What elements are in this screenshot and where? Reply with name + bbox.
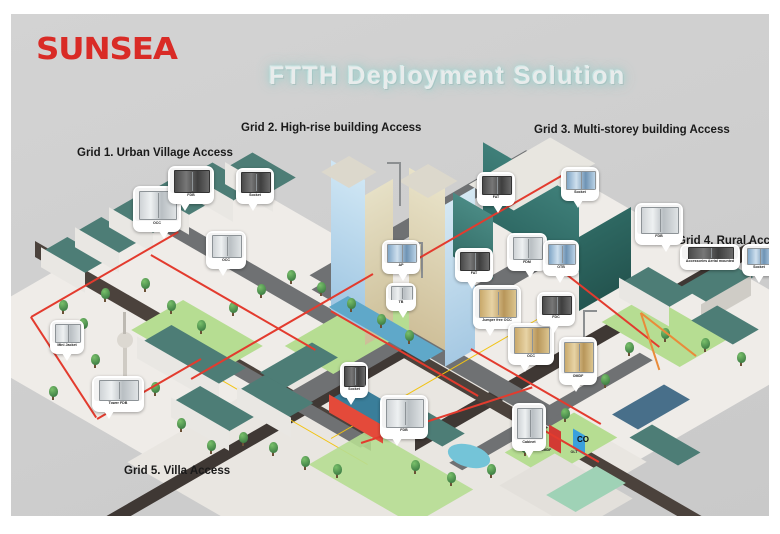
callout-label-ap-highrise: AP — [384, 263, 418, 268]
grid-label-3: Grid 3. Multi-storey building Access — [534, 124, 730, 136]
callout-label-fdm-multistorey: FDM — [509, 260, 545, 265]
callout-tail-jumper-free-occ — [485, 328, 495, 336]
callout-tail-fdc-street — [549, 325, 559, 333]
tree — [625, 342, 634, 356]
street-lamp-pole — [421, 242, 423, 278]
tree — [167, 300, 176, 314]
grid-label-1: Grid 1. Urban Village Access — [77, 147, 233, 159]
callout-label-mini-jacket: Mini Jacket — [52, 343, 82, 348]
device-art-socket-multistorey — [566, 171, 595, 190]
tree — [317, 282, 326, 296]
callout-fdb-villa[interactable]: FDB — [380, 395, 428, 439]
tree — [257, 284, 266, 298]
tree — [239, 432, 248, 446]
tree — [301, 456, 310, 470]
callout-label-otb-multistorey: OTB — [545, 265, 577, 270]
callout-image-fdc-street — [539, 294, 573, 315]
callout-socket-multistorey[interactable]: Socket — [561, 167, 599, 201]
tree — [447, 472, 456, 486]
callout-cabinet-co[interactable]: Cabinet — [512, 403, 546, 451]
callout-tail-tb-highrise — [398, 310, 408, 318]
tree — [269, 442, 278, 456]
tree — [333, 464, 342, 478]
callout-fdc-street[interactable]: FDC — [537, 292, 575, 326]
tree — [49, 386, 58, 400]
callout-tail-otb-multistorey — [555, 275, 565, 283]
callout-socket-rural[interactable]: Socket — [742, 244, 769, 276]
callout-image-ap-highrise — [384, 242, 418, 263]
tree — [377, 314, 386, 328]
sunsea-logo: SUNSEA — [36, 32, 177, 67]
callout-socket-village[interactable]: Socket — [236, 168, 274, 204]
grid-label-5: Grid 5. Villa Access — [124, 465, 230, 477]
isometric-city-scene: OMDF OLT — [11, 142, 769, 514]
tree — [601, 374, 610, 388]
callout-tail-occ-village — [159, 231, 169, 239]
device-art-fat-multistorey — [482, 176, 511, 195]
callout-tb-highrise[interactable]: TB — [386, 283, 416, 311]
callout-tail-mini-jacket — [62, 353, 72, 361]
callout-mini-jacket[interactable]: Mini Jacket — [50, 320, 84, 354]
callout-label-tb-highrise: TB — [388, 300, 414, 305]
device-art-socket-rural — [747, 248, 769, 265]
callout-tail-tower-fdb — [104, 411, 114, 419]
tree — [59, 300, 68, 314]
callout-image-fat-multistorey — [479, 174, 513, 195]
callout-label-fdb-rural: FDB — [637, 234, 681, 239]
callout-tail-socket-multistorey — [573, 200, 583, 208]
callout-image-omdf-street — [561, 339, 595, 374]
callout-image-cabinet-co — [514, 405, 544, 440]
tower-spire — [123, 312, 126, 334]
device-art-socket-village — [241, 172, 270, 193]
callout-occ-street-left[interactable]: OCC — [206, 231, 246, 269]
callout-tail-socket-village — [248, 203, 258, 211]
device-art-omdf-street — [564, 342, 593, 373]
tree — [91, 354, 100, 368]
tree — [561, 408, 570, 422]
tree — [487, 464, 496, 478]
callout-image-jumper-free-occ — [475, 287, 519, 318]
callout-tail-occ-street-left — [218, 268, 228, 276]
callout-image-socket-multistorey — [563, 169, 597, 190]
street-lamp-arm — [387, 162, 401, 164]
tree — [737, 352, 746, 366]
callout-label-fdb-village: FDB — [170, 193, 212, 198]
tree — [101, 288, 110, 302]
street-lamp-pole — [399, 162, 401, 206]
poster-canvas: SUNSEA FTTH Deployment Solution — [11, 14, 769, 516]
callout-label-socket-rural: Socket — [744, 265, 769, 270]
tree — [207, 440, 216, 454]
callout-ap-highrise[interactable]: AP — [382, 240, 420, 274]
callout-tail-ap-highrise — [398, 273, 408, 281]
callout-tail-socket-rural — [754, 275, 764, 283]
callout-label-socket-village: Socket — [238, 193, 272, 198]
device-art-fat-highrise — [460, 252, 489, 271]
callout-image-tb-highrise — [388, 285, 414, 300]
tree — [177, 418, 186, 432]
device-art-otb-multistorey — [548, 244, 576, 265]
callout-image-fdb-rural — [637, 205, 681, 234]
device-art-occ-street-left — [212, 235, 243, 258]
callout-image-tower-fdb — [94, 378, 142, 401]
device-art-cabinet-co — [517, 408, 543, 439]
callout-label-socket-villa: Socket — [342, 387, 366, 392]
device-art-fdc-street — [542, 296, 571, 315]
device-art-occ-center — [514, 327, 550, 353]
callout-image-socket-village — [238, 170, 272, 193]
callout-image-fdb-village — [170, 168, 212, 193]
callout-omdf-street[interactable]: OMDF — [559, 337, 597, 385]
device-art-tower-fdb — [99, 380, 139, 401]
tree — [411, 460, 420, 474]
device-art-fdb-villa — [386, 399, 423, 427]
callout-tail-fdb-villa — [392, 438, 402, 446]
callout-tail-fdb-village — [180, 203, 190, 211]
device-art-mini-jacket — [55, 324, 81, 343]
device-art-tb-highrise — [391, 286, 414, 300]
callout-label-fat-highrise: FAT — [457, 271, 491, 276]
tree — [141, 278, 150, 292]
callout-fat-multistorey[interactable]: FAT — [477, 172, 515, 206]
callout-tail-fdm-multistorey — [525, 270, 535, 278]
tree — [287, 270, 296, 284]
callout-tower-fdb[interactable]: Tower FDB — [92, 376, 144, 412]
callout-occ-center[interactable]: OCC — [508, 323, 554, 365]
tree — [197, 320, 206, 334]
tree — [701, 338, 710, 352]
callout-label-tower-fdb: Tower FDB — [94, 401, 142, 406]
callout-tail-socket-villa — [346, 397, 356, 405]
callout-otb-multistorey[interactable]: OTB — [543, 240, 579, 276]
callout-socket-villa[interactable]: Socket — [340, 362, 368, 398]
callout-tail-fdb-rural — [661, 244, 671, 252]
callout-label-occ-center: OCC — [510, 354, 552, 359]
callout-tail-fat-multistorey — [493, 205, 503, 213]
callout-fdm-multistorey[interactable]: FDM — [507, 233, 547, 271]
device-art-fdb-village — [174, 170, 210, 193]
tree — [347, 298, 356, 312]
callout-fdb-rural[interactable]: FDB — [635, 203, 683, 245]
tower-b-roof — [399, 164, 458, 198]
device-art-socket-villa — [344, 366, 365, 387]
callout-image-mini-jacket — [52, 322, 82, 343]
callout-label-cabinet-co: Cabinet — [514, 440, 544, 445]
device-art-ap-highrise — [387, 244, 416, 263]
callout-label-occ-village: OCC — [135, 221, 179, 226]
callout-accessories-aerial[interactable]: Accessories Aerial mounted — [680, 244, 740, 270]
tower-a-roof — [321, 156, 376, 188]
tree — [405, 330, 414, 344]
callout-label-fat-multistorey: FAT — [479, 195, 513, 200]
device-art-fdb-rural — [641, 207, 678, 233]
tower-pod — [117, 332, 133, 348]
callout-tail-omdf-street — [571, 384, 581, 392]
callout-image-accessories-aerial — [682, 246, 738, 259]
callout-tail-occ-center — [520, 364, 530, 372]
callout-image-socket-villa — [342, 364, 366, 387]
callout-image-otb-multistorey — [545, 242, 577, 265]
device-art-fdm-multistorey — [513, 237, 544, 260]
callout-image-fat-highrise — [457, 250, 491, 271]
device-art-jumper-free-occ — [479, 289, 516, 317]
callout-image-socket-rural — [744, 246, 769, 265]
callout-label-fdb-villa: FDB — [382, 428, 426, 433]
callout-tail-cabinet-co — [524, 450, 534, 458]
co-site-label: CO — [577, 435, 589, 444]
callout-image-fdb-villa — [382, 397, 426, 428]
page-title: FTTH Deployment Solution — [269, 62, 626, 91]
callout-label-socket-multistorey: Socket — [563, 190, 597, 195]
callout-label-accessories-aerial: Accessories Aerial mounted — [682, 259, 738, 264]
callout-fdb-village[interactable]: FDB — [168, 166, 214, 204]
callout-label-omdf-street: OMDF — [561, 374, 595, 379]
callout-label-fdc-street: FDC — [539, 315, 573, 320]
device-art-accessories-aerial — [688, 247, 735, 259]
street-lamp-arm — [583, 310, 597, 312]
grid-label-2: Grid 2. High-rise building Access — [241, 122, 421, 134]
callout-label-occ-street-left: OCC — [208, 258, 244, 263]
callout-fat-highrise[interactable]: FAT — [455, 248, 493, 282]
callout-image-fdm-multistorey — [509, 235, 545, 260]
callout-image-occ-center — [510, 325, 552, 354]
callout-image-occ-street-left — [208, 233, 244, 258]
